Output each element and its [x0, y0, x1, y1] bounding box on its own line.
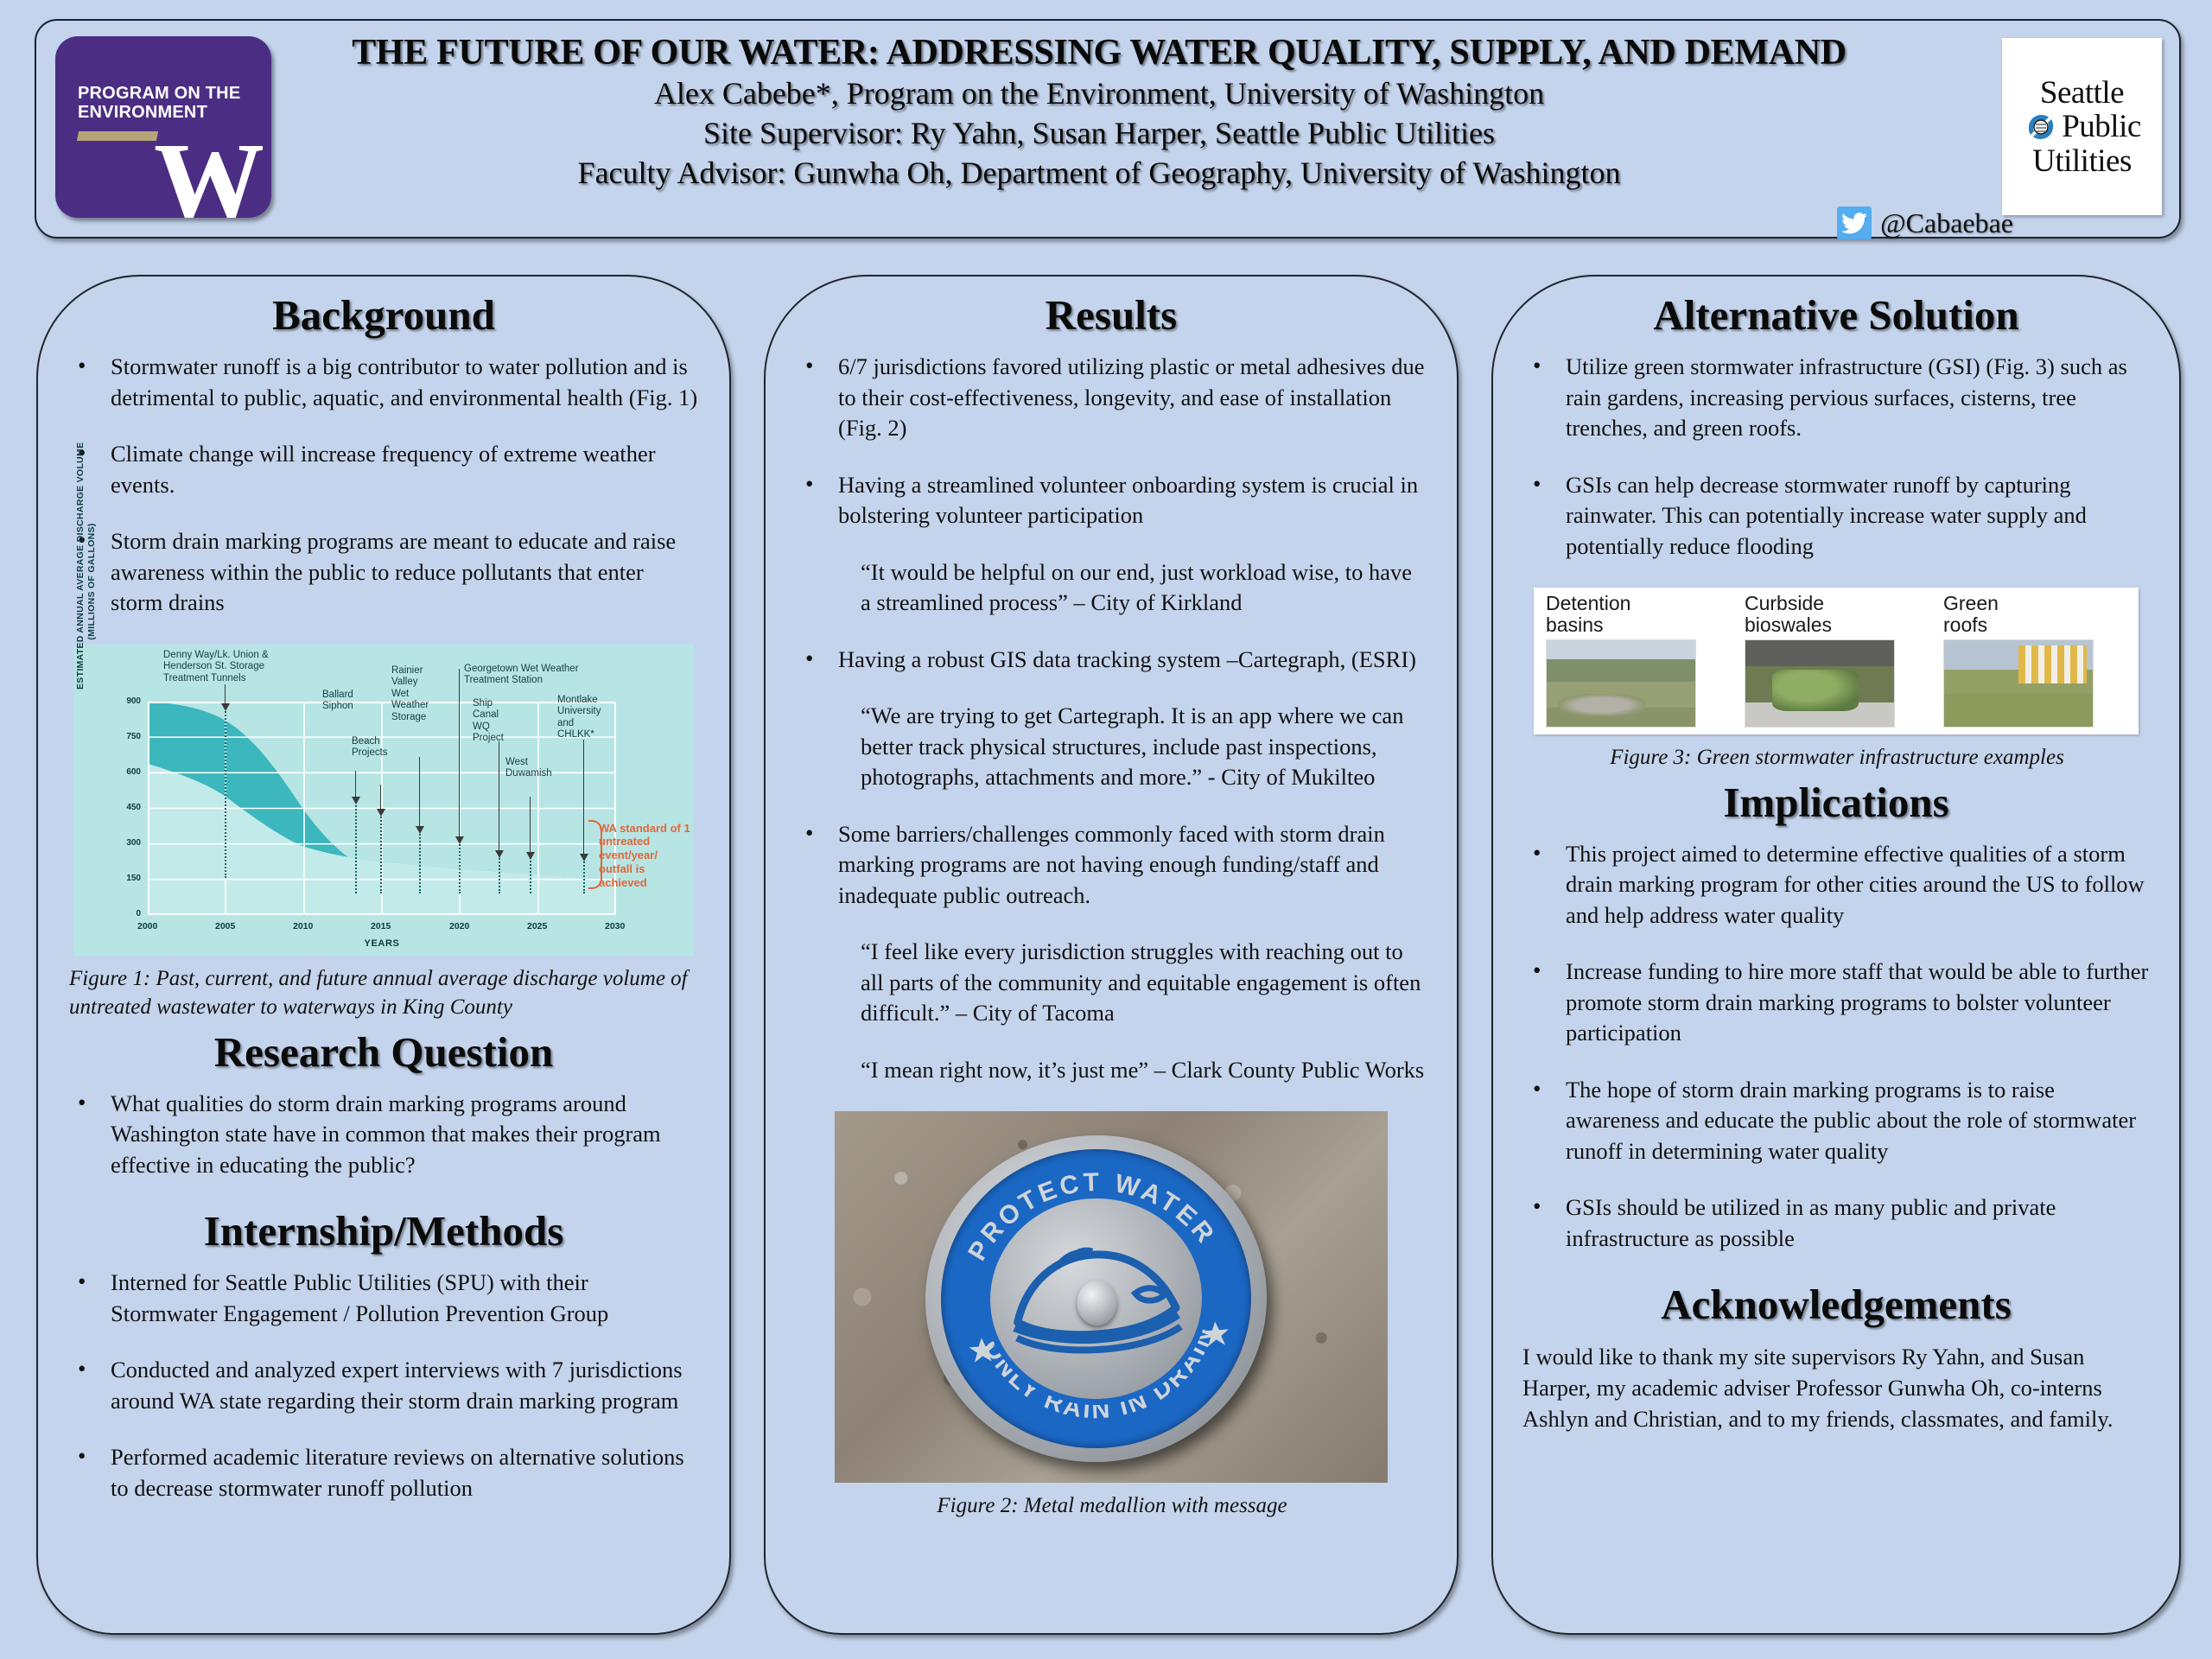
chart-project-line: [380, 810, 382, 893]
research-question-list: What qualities do storm drain marking pr…: [67, 1089, 700, 1181]
twitter-handle: @Cabaebae: [1880, 207, 2013, 239]
uw-gold-bar: [77, 131, 158, 141]
figure3-label-line2: bioswales: [1745, 613, 1832, 636]
uw-logo-text: PROGRAM ON THE ENVIRONMENT: [78, 84, 251, 123]
list-item: Increase funding to hire more staff that…: [1522, 957, 2150, 1049]
list-item: Storm drain marking programs are meant t…: [67, 526, 700, 619]
figure3-item: Detention basins: [1539, 593, 1725, 728]
chart-x-axis-label: YEARS: [148, 938, 616, 949]
chart-annotation: Georgetown Wet WeatherTreatment Station: [464, 664, 611, 687]
figure3-item: Curbside bioswales: [1738, 593, 1923, 728]
figure3-label-line1: Green: [1943, 592, 1999, 614]
site-supervisor-line: Site Supervisor: Ry Yahn, Susan Harper, …: [278, 113, 1920, 153]
list-item: GSIs should be utilized in as many publi…: [1522, 1192, 2150, 1254]
background-heading: Background: [67, 290, 700, 340]
figure3-label-line1: Curbside: [1745, 592, 1824, 614]
chart-project-arrow: [583, 740, 584, 854]
alternative-solution-heading: Alternative Solution: [1522, 290, 2150, 340]
chart-annotation: ShipCanalWQProject: [473, 698, 521, 745]
faculty-advisor-line: Faculty Advisor: Gunwha Oh, Department o…: [278, 153, 1920, 193]
chart-ytick: 0: [111, 909, 141, 918]
list-item: Performed academic literature reviews on…: [67, 1442, 700, 1503]
figure2-caption: Figure 2: Metal medallion with message: [797, 1491, 1427, 1521]
chart-annotation: Denny Way/Lk. Union &Henderson St. Stora…: [163, 650, 319, 685]
figure1-chart: ESTIMATED ANNUAL AVERAGE DISCHARGE VOLUM…: [73, 645, 694, 956]
uw-logo-line1: PROGRAM ON THE: [78, 84, 251, 103]
seattle-public-utilities-logo: Seattle Public Utilities: [2002, 38, 2162, 215]
list-item: 6/7 jurisdictions favored utilizing plas…: [795, 352, 1427, 444]
chart-xtick: 2015: [371, 921, 391, 931]
figure3-label: Curbside bioswales: [1738, 593, 1923, 636]
chart-y-axis-label: ESTIMATED ANNUAL AVERAGE DISCHARGE VOLUM…: [75, 474, 98, 690]
results-list: Having a robust GIS data tracking system…: [795, 645, 1427, 676]
chart-project-line: [225, 705, 226, 878]
column-background: Background Stormwater runoff is a big co…: [36, 275, 731, 1635]
chart-ytick: 300: [111, 838, 141, 848]
implications-list: This project aimed to determine effectiv…: [1522, 839, 2150, 1255]
list-item: Conducted and analyzed expert interviews…: [67, 1355, 700, 1416]
chart-wa-standard-annotation: WA standard of 1 untreated event/year/ o…: [599, 822, 692, 890]
list-item: Interned for Seattle Public Utilities (S…: [67, 1268, 700, 1329]
chart-annotation: BallardSiphon: [322, 690, 372, 713]
chart-project-line: [499, 852, 500, 893]
figure3-gsi-examples: Detention basins Curbside bioswales Gree…: [1534, 588, 2139, 734]
chart-project-arrow: [380, 785, 381, 809]
poster-header: PROGRAM ON THE ENVIRONMENT W THE FUTURE …: [35, 19, 2181, 238]
green-roof-photo: [1943, 639, 2094, 728]
results-quote: “It would be helpful on our end, just wo…: [861, 557, 1427, 619]
list-item: Having a robust GIS data tracking system…: [795, 645, 1427, 676]
chart-annotation: MontlakeUniversityandCHLKK*: [557, 695, 621, 741]
figure3-label-line2: roofs: [1943, 613, 1987, 636]
chart-xtick: 2020: [449, 921, 469, 931]
spu-logo-line2: Public: [2062, 111, 2141, 143]
figure3-label: Detention basins: [1539, 593, 1725, 636]
column-results: Results 6/7 jurisdictions favored utiliz…: [764, 275, 1459, 1635]
curbside-bioswale-photo: [1745, 639, 1895, 728]
chart-project-arrow: [530, 797, 531, 852]
chart-ytick: 600: [111, 767, 141, 777]
title-block: THE FUTURE OF OUR WATER: ADDRESSING WATE…: [278, 33, 1920, 193]
list-item: Climate change will increase frequency o…: [67, 439, 700, 500]
spu-globe-icon: [2023, 109, 2059, 145]
uw-w-wordmark: W: [154, 126, 264, 218]
chart-project-arrow: [225, 684, 226, 703]
results-list: Some barriers/challenges commonly faced …: [795, 819, 1427, 912]
chart-ytick: 750: [111, 732, 141, 741]
storm-drain-medallion: PROTECT WATER ONLY RAIN IN DRAIN: [914, 1124, 1277, 1474]
figure3-label-line2: basins: [1546, 613, 1603, 636]
list-item: What qualities do storm drain marking pr…: [67, 1089, 700, 1181]
implications-heading: Implications: [1522, 778, 2150, 827]
figure1-caption: Figure 1: Past, current, and future annu…: [69, 964, 700, 1022]
twitter-icon: [1837, 207, 1872, 239]
alternative-solution-list: Utilize green stormwater infrastructure …: [1522, 352, 2150, 562]
chart-xtick: 2000: [137, 921, 157, 931]
figure3-label: Green roofs: [1936, 593, 2122, 636]
chart-annotation: RainierValleyWetWeatherStorage: [391, 665, 445, 724]
chart-annotation: WestDuwamish: [505, 757, 580, 780]
list-item: Utilize green stormwater infrastructure …: [1522, 352, 2150, 444]
chart-project-arrow: [355, 771, 356, 797]
list-item: This project aimed to determine effectiv…: [1522, 839, 2150, 931]
chart-xtick: 2030: [605, 921, 625, 931]
results-quote: “We are trying to get Cartegraph. It is …: [861, 701, 1427, 793]
chart-project-line: [355, 798, 357, 893]
chart-project-arrow: [419, 757, 420, 826]
chart-ytick: 450: [111, 803, 141, 812]
chart-annotation: BeachProjects: [352, 736, 404, 760]
poster-title: THE FUTURE OF OUR WATER: ADDRESSING WATE…: [278, 33, 1920, 73]
author-line: Alex Cabebe*, Program on the Environment…: [278, 73, 1920, 113]
column-alternative-solution: Alternative Solution Utilize green storm…: [1491, 275, 2181, 1635]
detention-basin-photo: [1546, 639, 1696, 728]
list-item: Stormwater runoff is a big contributor t…: [67, 352, 700, 413]
list-item: Having a streamlined volunteer onboardin…: [795, 470, 1427, 531]
methods-list: Interned for Seattle Public Utilities (S…: [67, 1268, 700, 1503]
figure3-label-line1: Detention: [1546, 592, 1630, 614]
acknowledgements-text: I would like to thank my site supervisor…: [1522, 1341, 2150, 1434]
results-quote: “I feel like every jurisdiction struggle…: [861, 937, 1427, 1029]
chart-ytick: 150: [111, 874, 141, 883]
figure2-photo: PROTECT WATER ONLY RAIN IN DRAIN: [835, 1111, 1388, 1483]
twitter-contact[interactable]: @Cabaebae: [1837, 207, 2013, 239]
results-heading: Results: [795, 290, 1427, 340]
acknowledgements-heading: Acknowledgements: [1522, 1280, 2150, 1329]
chart-xtick: 2005: [215, 921, 235, 931]
chart-xtick: 2010: [293, 921, 313, 931]
figure3-item: Green roofs: [1936, 593, 2122, 728]
chart-project-line: [459, 838, 461, 893]
chart-project-arrow: [499, 741, 499, 850]
research-question-heading: Research Question: [67, 1027, 700, 1077]
chart-project-arrow: [459, 669, 460, 836]
spu-logo-line3: Utilities: [2032, 145, 2132, 177]
spu-logo-line1: Seattle: [2040, 77, 2124, 109]
chart-xtick: 2025: [527, 921, 547, 931]
background-bullet-list: Stormwater runoff is a big contributor t…: [67, 352, 700, 619]
results-quote: “I mean right now, it’s just me” – Clark…: [861, 1055, 1427, 1086]
uw-program-on-the-environment-logo: PROGRAM ON THE ENVIRONMENT W: [55, 36, 271, 218]
chart-ytick: 900: [111, 696, 141, 706]
chart-project-line: [419, 828, 421, 893]
figure3-caption: Figure 3: Green stormwater infrastructur…: [1524, 743, 2150, 772]
list-item: GSIs can help decrease stormwater runoff…: [1522, 470, 2150, 563]
list-item: Some barriers/challenges commonly faced …: [795, 819, 1427, 912]
results-list: 6/7 jurisdictions favored utilizing plas…: [795, 352, 1427, 531]
list-item: The hope of storm drain marking programs…: [1522, 1075, 2150, 1167]
internship-methods-heading: Internship/Methods: [67, 1206, 700, 1255]
